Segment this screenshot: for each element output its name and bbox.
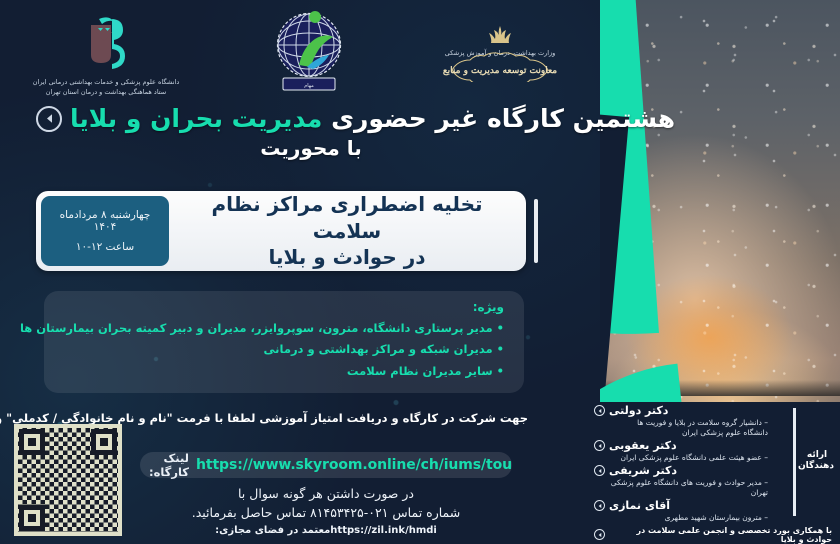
- list-item: مدیران شبکه و مراکز بهداشتی و درمانی: [64, 339, 504, 360]
- presenter-name-row: دکتر شریفی: [594, 464, 772, 478]
- workshop-title: تخلیه اضطراری مراکز نظام سلامت در حوادث …: [174, 191, 526, 271]
- globe-figure-emblem-icon: مهام: [224, 9, 394, 99]
- qr-finder-top-left: [19, 429, 45, 455]
- presenter-name: دکتر شریفی: [609, 464, 677, 478]
- headline-block: هشتمین کارگاه غیر حضوری مدیریت بحران و ب…: [0, 104, 600, 160]
- contact-line-2: شماره تماس ۰۲۱-۸۱۴۵۳۴۲۵ تماس حاصل بفرمائ…: [140, 503, 512, 522]
- iums-emblem-icon: [6, 13, 206, 75]
- contact-line-1: در صورت داشتن هر گونه سوال با: [140, 484, 512, 503]
- list-item: دکتر شریفی مدیر حوادث و فوریت های دانشگا…: [594, 464, 772, 498]
- presenters-list: دکتر دولتی دانشیار گروه سلامت در بلایا و…: [594, 404, 778, 523]
- presenter-role: مدیر حوادث و فوریت های دانشگاه علوم پزشک…: [594, 478, 772, 498]
- presenter-name: دکتر دولتی: [609, 404, 668, 418]
- svg-text:معاونت توسعه مدیریت و منابع: معاونت توسعه مدیریت و منابع: [443, 65, 557, 76]
- chevron-left-circle-icon: [594, 465, 605, 476]
- presenter-name-row: دکتر یعقوبی: [594, 439, 772, 453]
- qr-finder-top-right: [91, 429, 117, 455]
- qr-code-icon[interactable]: [14, 424, 122, 536]
- event-time: ساعت ۱۲-۱۰: [76, 241, 134, 254]
- virtual-space-url[interactable]: https://zil.ink/hmdi: [330, 525, 437, 536]
- presenter-name: آقای نمازی: [609, 499, 670, 513]
- presenters-panel: ارائه دهندگان دکتر دولتی دانشیار گروه سل…: [590, 402, 840, 544]
- header-logos: وزارت بهداشت، درمان و آموزش پزشکی معاونت…: [0, 4, 600, 106]
- presenter-name-row: دکتر دولتی: [594, 404, 772, 418]
- list-item: دکتر دولتی دانشیار گروه سلامت در بلایا و…: [594, 404, 772, 438]
- headline-text: هشتمین کارگاه غیر حضوری مدیریت بحران و ب…: [70, 104, 675, 133]
- iums-logo: دانشگاه علوم پزشکی و خدمات بهداشتی درمان…: [6, 13, 206, 97]
- workshop-title-line2: در حوادث و بلایا: [269, 244, 426, 270]
- workshop-link-label: لینک کارگاه:: [140, 451, 189, 479]
- presenter-role: دانشیار گروه سلامت در بلایا و فوریت ها د…: [594, 418, 772, 438]
- presenters-divider: [793, 408, 796, 516]
- event-poster: وزارت بهداشت، درمان و آموزش پزشکی معاونت…: [0, 0, 840, 544]
- title-accent-bar: [534, 199, 538, 263]
- list-item: آقای نمازی مترون بیمارستان شهید مطهری: [594, 499, 772, 523]
- qr-finder-bottom-left: [19, 505, 45, 531]
- date-time-chip: چهارشنبه ۸ مردادماه ۱۴۰۴ ساعت ۱۲-۱۰: [41, 196, 169, 266]
- audience-label: ویژه:: [64, 300, 504, 314]
- audience-list: مدیر پرستاری دانشگاه، مترون، سوپروایزر، …: [64, 318, 504, 382]
- collaboration-row: با همکاری بورد تخصصی و انجمن علمی سلامت …: [594, 526, 832, 544]
- presenter-role: عضو هیئت علمی دانشگاه علوم پزشکی ایران: [594, 453, 772, 463]
- chevron-left-circle-icon: [36, 106, 62, 132]
- virtual-space-row: https://zil.ink/hmdiمعتمد در فضای مجازی:: [140, 525, 512, 536]
- audience-box: ویژه: مدیر پرستاری دانشگاه، مترون، سوپرو…: [44, 291, 524, 393]
- presenter-name-row: آقای نمازی: [594, 499, 772, 513]
- moham-logo: مهام: [224, 9, 394, 101]
- contact-block: در صورت داشتن هر گونه سوال با شماره تماس…: [140, 484, 512, 536]
- virtual-space-label: معتمد در فضای مجازی:: [215, 525, 330, 536]
- ministry-emblem-icon: وزارت بهداشت، درمان و آموزش پزشکی معاونت…: [400, 22, 600, 86]
- list-item: سایر مدیران نظام سلامت: [64, 361, 504, 382]
- presenter-name: دکتر یعقوبی: [609, 439, 677, 453]
- iums-logo-caption: دانشگاه علوم پزشکی و خدمات بهداشتی درمان…: [6, 77, 206, 97]
- workshop-link-pill[interactable]: https://www.skyroom.online/ch/iums/tou ل…: [140, 452, 512, 478]
- svg-text:مهام: مهام: [304, 83, 314, 89]
- collaboration-text: با همکاری بورد تخصصی و انجمن علمی سلامت …: [609, 526, 832, 544]
- registration-note: جهت شرکت در کارگاه و دریافت امتیاز آموزش…: [28, 411, 528, 425]
- presenters-label: ارائه دهندگان: [800, 450, 834, 472]
- headline-part-accent: مدیریت بحران و بلایا: [70, 104, 322, 133]
- presenter-role: مترون بیمارستان شهید مطهری: [594, 513, 772, 523]
- chevron-left-circle-icon: [594, 500, 605, 511]
- chevron-left-circle-icon: [594, 405, 605, 416]
- headline-subtitle: با محوریت: [0, 136, 600, 160]
- workshop-link-url[interactable]: https://www.skyroom.online/ch/iums/tou: [196, 457, 512, 473]
- chevron-left-circle-icon: [594, 529, 605, 540]
- event-date: چهارشنبه ۸ مردادماه ۱۴۰۴: [47, 209, 163, 234]
- workshop-title-line1: تخلیه اضطراری مراکز نظام سلامت: [178, 191, 516, 244]
- svg-text:وزارت بهداشت، درمان و آموزش پز: وزارت بهداشت، درمان و آموزش پزشکی: [445, 48, 556, 57]
- ministry-logo: وزارت بهداشت، درمان و آموزش پزشکی معاونت…: [400, 22, 600, 88]
- headline-part-white: هشتمین کارگاه غیر حضوری: [322, 104, 675, 133]
- chevron-left-circle-icon: [594, 440, 605, 451]
- list-item: دکتر یعقوبی عضو هیئت علمی دانشگاه علوم پ…: [594, 439, 772, 463]
- title-bar: تخلیه اضطراری مراکز نظام سلامت در حوادث …: [36, 191, 526, 271]
- list-item: مدیر پرستاری دانشگاه، مترون، سوپروایزر، …: [64, 318, 504, 339]
